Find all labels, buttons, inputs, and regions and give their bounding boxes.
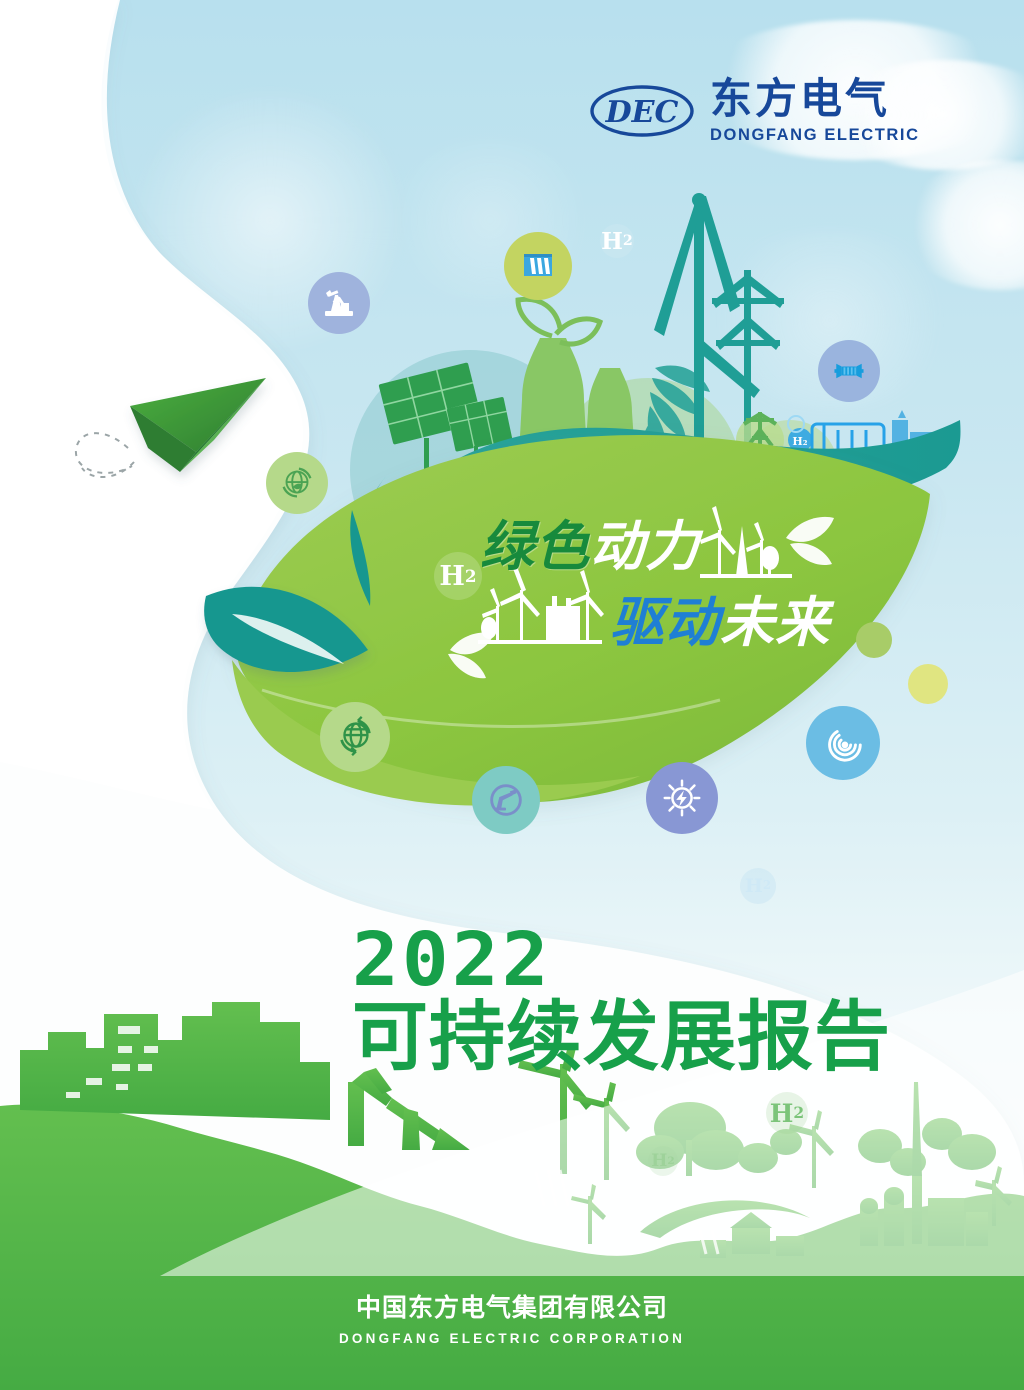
solar-energy-icon[interactable] — [646, 762, 718, 834]
brand-name-cn: 东方电气 — [710, 78, 920, 120]
gas-turbine-icon[interactable] — [818, 340, 880, 402]
robot-arm-icon[interactable] — [472, 766, 540, 834]
recycle-globe-icon[interactable] — [320, 702, 390, 772]
oil-pumpjack-icon[interactable] — [308, 272, 370, 334]
eco-globe-icon[interactable] — [266, 452, 328, 514]
brand-name-en: DONGFANG ELECTRIC — [710, 127, 920, 144]
hydro-dam-icon[interactable] — [504, 232, 572, 300]
cover-artwork: H₂ — [0, 0, 1024, 1390]
svg-text:DEC: DEC — [605, 95, 679, 130]
report-cover: H₂ — [0, 0, 1024, 1390]
brand-logo: DEC 东方电气 DONGFANG ELECTRIC — [588, 78, 920, 144]
radar-spiral-icon[interactable] — [806, 706, 880, 780]
svg-text:H₂: H₂ — [792, 435, 807, 448]
tower-leaf-icon — [518, 299, 600, 344]
dec-logo-mark: DEC — [588, 84, 696, 138]
